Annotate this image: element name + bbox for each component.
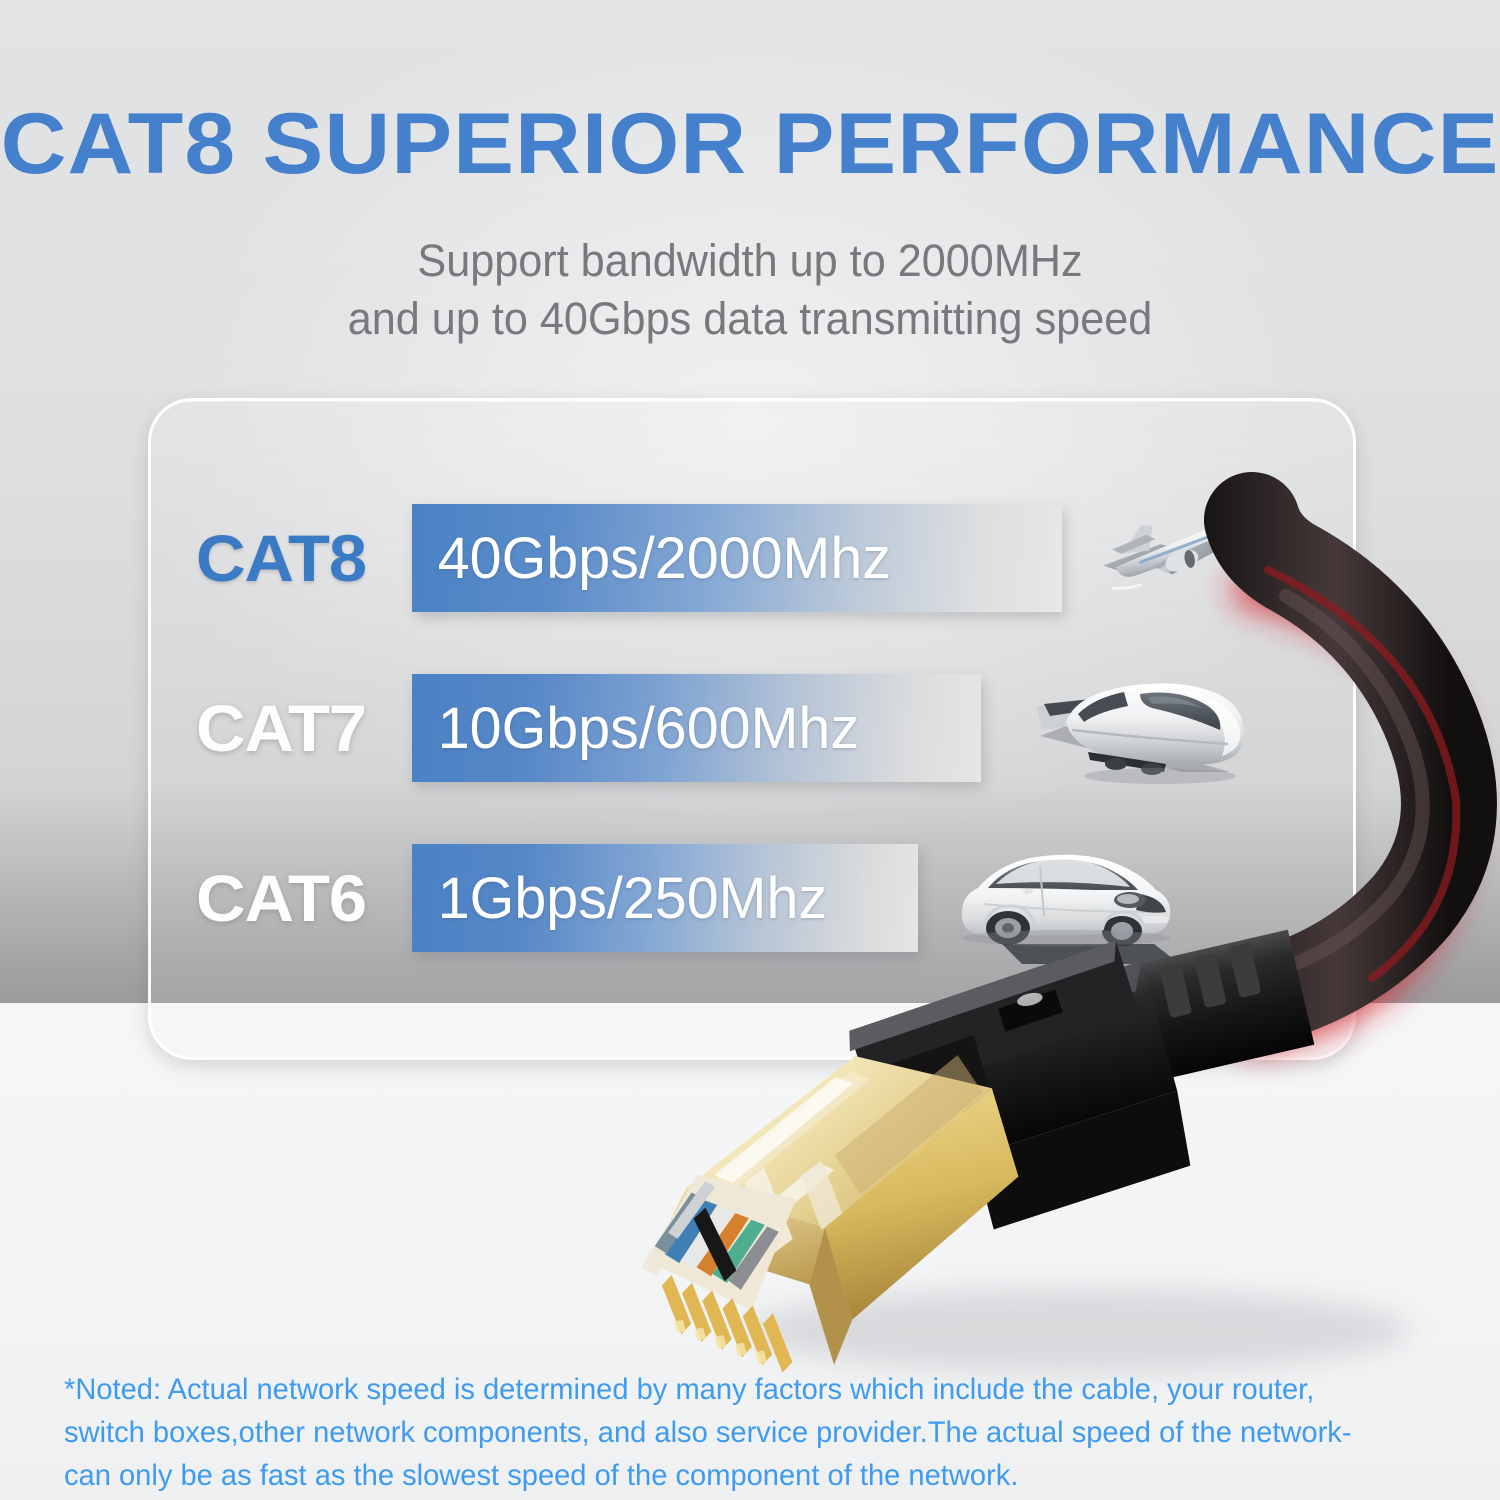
speed-value-cat6: 1Gbps/250Mhz (412, 865, 827, 932)
product-infographic: CAT8 SUPERIOR PERFORMANCE Support bandwi… (0, 0, 1500, 1500)
footnote-disclaimer: *Noted: Actual network speed is determin… (64, 1368, 1412, 1497)
footnote-line-3: can only be as fast as the slowest speed… (64, 1454, 1412, 1497)
footnote-line-1: *Noted: Actual network speed is determin… (64, 1368, 1412, 1411)
speed-value-cat7: 10Gbps/600Mhz (412, 695, 859, 762)
footnote-line-2: switch boxes,other network components, a… (64, 1411, 1412, 1454)
speed-value-cat8: 40Gbps/2000Mhz (412, 525, 891, 592)
